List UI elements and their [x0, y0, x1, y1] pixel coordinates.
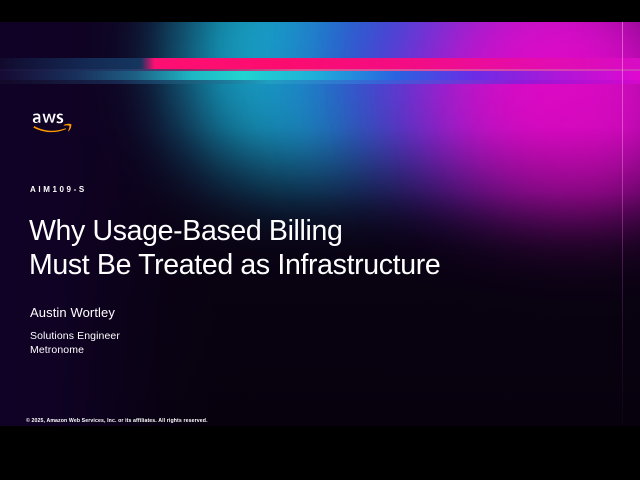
page-title: Why Usage-Based Billing Must Be Treated … [29, 214, 589, 282]
title-line-1: Why Usage-Based Billing [29, 214, 589, 248]
accent-stripe-lower [0, 80, 640, 84]
speaker-block: Austin Wortley Solutions Engineer Metron… [30, 305, 120, 357]
title-line-2: Must Be Treated as Infrastructure [29, 248, 589, 282]
accent-stripe-band [0, 58, 640, 84]
aws-logo [29, 104, 81, 134]
video-frame: AIM109-S Why Usage-Based Billing Must Be… [0, 0, 640, 480]
speaker-name: Austin Wortley [30, 305, 120, 320]
right-edge-seam [622, 22, 623, 426]
speaker-company: Metronome [30, 343, 120, 357]
accent-stripe-pink [0, 58, 640, 69]
copyright-notice: © 2025, Amazon Web Services, Inc. or its… [26, 418, 208, 424]
session-code: AIM109-S [30, 185, 87, 194]
speaker-role: Solutions Engineer [30, 329, 120, 343]
presentation-slide: AIM109-S Why Usage-Based Billing Must Be… [0, 22, 640, 426]
accent-stripe-cyan [0, 71, 640, 80]
